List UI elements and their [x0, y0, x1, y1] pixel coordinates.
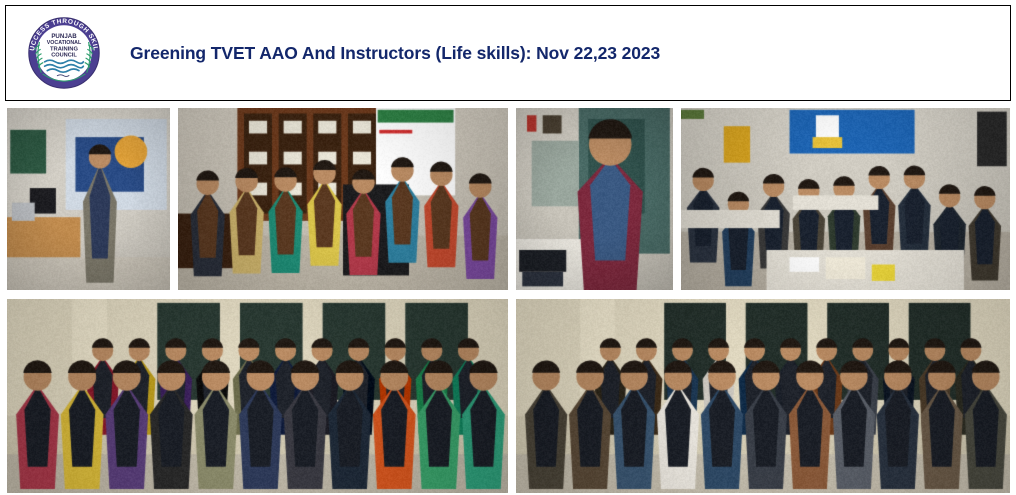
photo-4-image [681, 108, 1010, 290]
photo-3-image [516, 108, 673, 290]
page-title: Greening TVET AAO And Instructors (Life … [130, 43, 660, 64]
photo-6-image [516, 299, 1010, 493]
photo-1-image [7, 108, 170, 290]
header-banner: SUCCESS THROUGH SKILL PUNJAB VOCATIONAL … [5, 5, 1011, 101]
photo-5-image [7, 299, 508, 493]
photo-gallery [0, 106, 1016, 495]
photo-thumbnail[interactable] [516, 299, 1010, 493]
svg-text:PUNJAB: PUNJAB [51, 33, 77, 40]
photo-thumbnail[interactable] [7, 108, 170, 290]
photo-2-image [178, 108, 508, 290]
svg-text:TRAINING: TRAINING [50, 46, 79, 52]
svg-text:COUNCIL: COUNCIL [51, 53, 77, 59]
photo-thumbnail[interactable] [178, 108, 508, 290]
photo-thumbnail[interactable] [681, 108, 1010, 290]
photo-collage-page: SUCCESS THROUGH SKILL PUNJAB VOCATIONAL … [0, 0, 1016, 495]
pvtc-logo: SUCCESS THROUGH SKILL PUNJAB VOCATIONAL … [12, 7, 116, 99]
svg-text:VOCATIONAL: VOCATIONAL [47, 40, 82, 46]
photo-thumbnail[interactable] [516, 108, 673, 290]
pvtc-logo-icon: SUCCESS THROUGH SKILL PUNJAB VOCATIONAL … [20, 9, 108, 97]
photo-thumbnail[interactable] [7, 299, 508, 493]
